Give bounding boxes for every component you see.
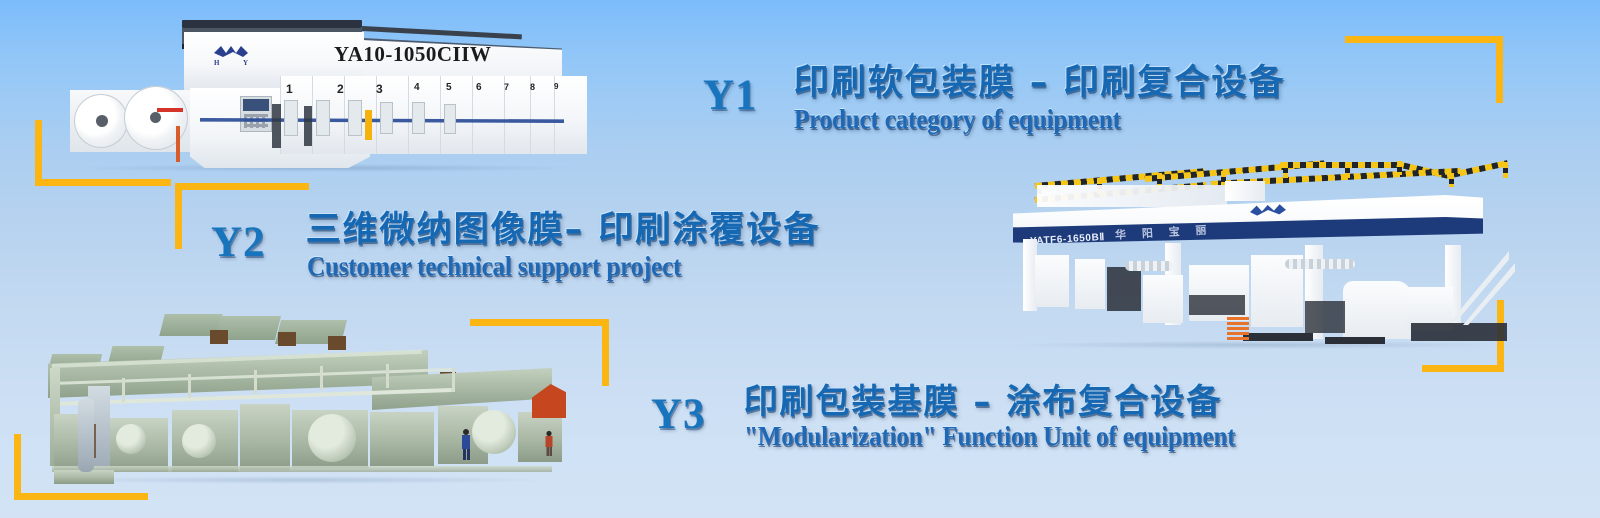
coater-rail-post — [188, 374, 191, 398]
press-hub-left — [96, 115, 108, 127]
bracket-bottomleft-horizontal — [14, 493, 148, 500]
press-unit-number: 2 — [337, 82, 344, 96]
coater-body-h — [518, 412, 562, 462]
laminator-dark-c — [1305, 301, 1345, 333]
press-unit-number: 9 — [554, 82, 558, 91]
press-top-deck — [182, 20, 362, 28]
laminator-platform-box — [1225, 181, 1265, 201]
coater-motor-2 — [278, 332, 296, 346]
laminator-dark-base — [1411, 323, 1507, 341]
svg-text:Y: Y — [243, 59, 248, 66]
machine-image-coating-line — [32, 306, 577, 488]
laminator-shadow — [1015, 341, 1495, 349]
railing-post-8 — [1449, 173, 1454, 187]
laminator-block-f — [1343, 281, 1411, 339]
laminator-block-b — [1075, 259, 1105, 309]
railing-post-5 — [1283, 162, 1288, 178]
press-drive-box-b — [316, 100, 330, 136]
coater-drum-b — [182, 424, 216, 458]
coater-body-d — [240, 404, 290, 470]
press-unit-number: 6 — [476, 82, 482, 93]
coater-drum-d — [472, 410, 516, 454]
entry-y2-subtitle-en: Customer technical support project — [307, 252, 785, 280]
press-drive-box-f — [444, 104, 456, 134]
laminator-hose-coil — [1227, 317, 1249, 341]
bracket-topleft-horizontal — [35, 179, 171, 186]
entry-y2: Y2 三维微纳图像膜– 印刷涂覆设备 Customer technical su… — [211, 213, 820, 280]
laminator-roller-b — [1285, 259, 1355, 269]
laminator-roller-a — [1125, 261, 1173, 271]
bracket-y2-top-horizontal — [175, 183, 309, 190]
laminator-block-c — [1143, 275, 1183, 323]
press-drive-box-e — [412, 102, 425, 134]
bracket-bottomleft-vertical — [14, 434, 21, 500]
entry-y3-title-cn: 印刷包装基膜 – 涂布复合设备 — [744, 385, 1272, 420]
press-shaft-dark — [272, 104, 281, 148]
press-unit-number: 3 — [376, 82, 383, 96]
railing-post-6 — [1345, 162, 1350, 178]
coater-rail-post — [452, 368, 455, 392]
press-unit-number: 8 — [530, 82, 535, 92]
entry-y3: Y3 印刷包装基膜 – 涂布复合设备 "Modularization" Func… — [651, 385, 1272, 450]
coater-base-rail — [52, 466, 552, 472]
entry-y3-code: Y3 — [651, 393, 706, 436]
coater-worker-blue — [460, 428, 472, 465]
entry-y3-subtitle-en: "Modularization" Function Unit of equipm… — [744, 422, 1235, 450]
press-web-splice — [157, 108, 183, 112]
entry-y1-title-cn: 印刷软包装膜 – 印刷复合设备 — [794, 66, 1286, 102]
laminator-brand-logo-icon — [1247, 202, 1290, 221]
press-unit-number: 1 — [286, 82, 293, 96]
bracket-topleft-vertical — [35, 120, 42, 186]
laminator-access-stairs-2 — [1463, 263, 1515, 325]
railing-post-9 — [1503, 162, 1508, 178]
entry-y2-text: 三维微纳图像膜– 印刷涂覆设备 Customer technical suppo… — [306, 213, 821, 280]
bracket-y1-right-vertical — [1496, 36, 1503, 103]
coater-body-f — [370, 412, 434, 466]
coater-rail-post — [320, 366, 323, 390]
entry-y1-text: 印刷软包装膜 – 印刷复合设备 Product category of equi… — [794, 66, 1286, 133]
laminator-dark-a — [1107, 267, 1141, 311]
press-unit — [554, 76, 587, 154]
bracket-y2-right-vertical — [602, 319, 609, 386]
press-rail-a — [362, 26, 522, 39]
entry-y1: Y1 印刷软包装膜 – 印刷复合设备 Product category of e… — [703, 66, 1285, 133]
press-hub-right — [150, 112, 161, 123]
entry-y3-text: 印刷包装基膜 – 涂布复合设备 "Modularization" Functio… — [744, 385, 1272, 450]
banner-root: H Y YA10-1050CIIW 1 2 3 — [0, 0, 1600, 518]
press-yellow-marker — [365, 110, 372, 140]
coater-drum-a — [116, 424, 146, 454]
laminator-base-rail-left — [1243, 333, 1313, 341]
press-drive-box-d — [380, 102, 393, 134]
entry-y1-subtitle-en: Product category of equipment — [794, 105, 1251, 133]
laminator-base-rail-mid — [1325, 337, 1385, 344]
coater-drum-c — [308, 414, 356, 462]
press-unit-number: 5 — [446, 82, 452, 93]
press-control-screen — [243, 99, 269, 111]
coater-motor-1 — [210, 330, 228, 344]
coater-worker-red — [544, 430, 554, 461]
coater-steel-roll — [78, 398, 94, 472]
coater-shadow — [52, 476, 552, 484]
svg-text:H: H — [214, 59, 220, 66]
press-model-label: YA10-1050CIIW — [334, 42, 491, 67]
press-drive-box-a — [284, 100, 298, 136]
entry-y1-code: Y1 — [703, 74, 758, 117]
coater-rail-post — [386, 364, 389, 388]
press-unit-number: 4 — [414, 82, 420, 93]
bracket-y2-left-vertical — [175, 183, 182, 249]
press-web-tail — [176, 126, 180, 162]
press-control-panel — [240, 96, 272, 132]
railing-top-front — [1280, 162, 1400, 168]
laminator-platform-skirt — [1037, 185, 1227, 207]
coater-motor-3 — [328, 336, 346, 350]
press-unit-number: 7 — [504, 82, 509, 92]
machine-image-printing-press: H Y YA10-1050CIIW 1 2 3 — [62, 8, 602, 180]
laminator-block-a — [1035, 255, 1069, 307]
press-shaft-dark-2 — [304, 106, 312, 146]
coater-rail-post — [122, 378, 125, 402]
machine-image-laminator: 华 阳 宝 丽 YATF6-1650BⅡ — [975, 155, 1520, 355]
railing-post-7 — [1397, 161, 1402, 175]
press-drive-box-c — [348, 100, 362, 136]
press-brand-logo-icon: H Y — [210, 44, 256, 66]
entry-y2-title-cn: 三维微纳图像膜– 印刷涂覆设备 — [306, 213, 821, 249]
coater-rail-post — [254, 370, 257, 394]
bracket-y3-right-horizontal — [1422, 365, 1504, 372]
bracket-y1-top-horizontal — [1345, 36, 1503, 43]
entry-y2-code: Y2 — [211, 221, 266, 264]
coater-plinth — [54, 470, 114, 484]
laminator-dark-b — [1189, 295, 1245, 315]
